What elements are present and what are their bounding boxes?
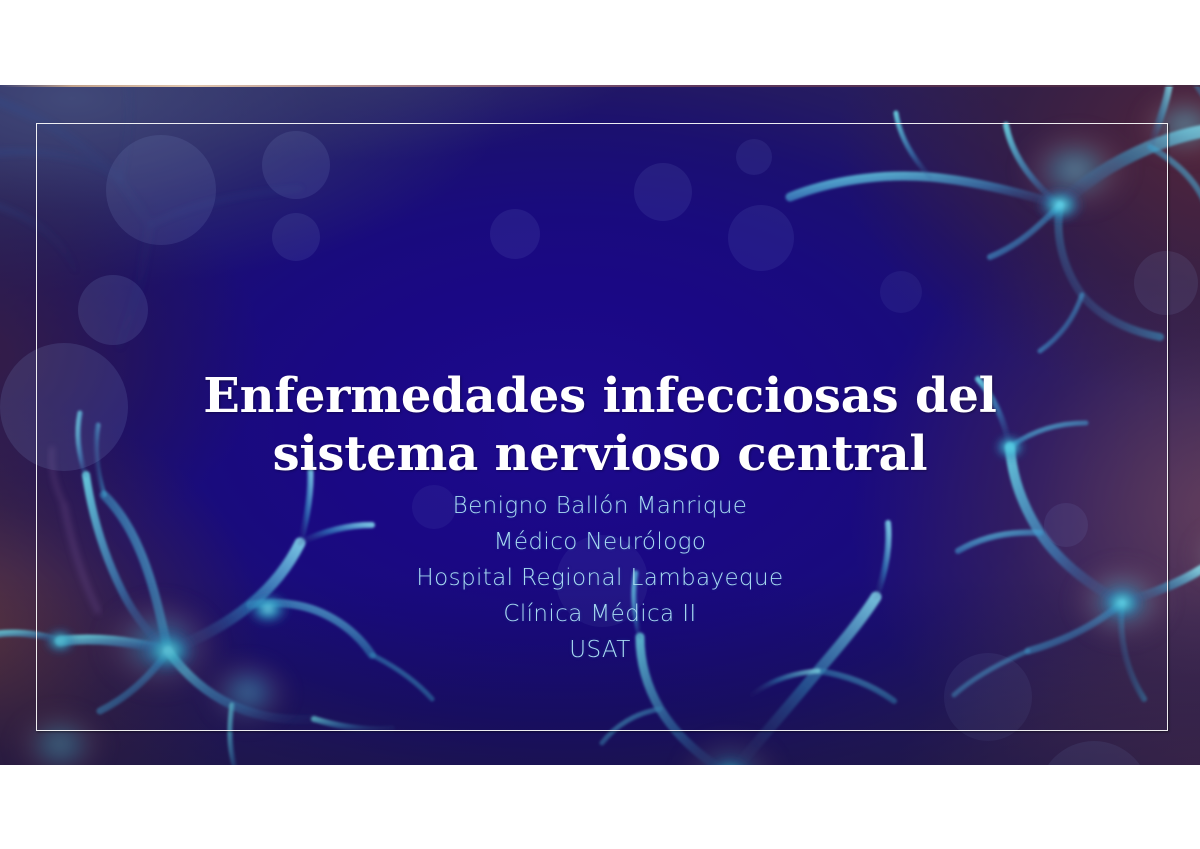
subtitle-hospital: Hospital Regional Lambayeque [200, 560, 1000, 596]
presentation-slide: Enfermedades infecciosas del sistema ner… [0, 85, 1200, 765]
subtitle-role: Médico Neurólogo [200, 524, 1000, 560]
title-line-2: sistema nervioso central [273, 426, 928, 482]
bokeh-circle [78, 275, 148, 345]
bokeh-circle [728, 205, 794, 271]
subtitle-course: Clínica Médica II [200, 596, 1000, 632]
title-line-1: Enfermedades infecciosas del [203, 368, 996, 424]
bokeh-circle [634, 163, 692, 221]
neuron-left-faint [52, 449, 99, 611]
bokeh-circle [106, 135, 216, 245]
neuron-top-left [0, 85, 300, 345]
bokeh-circle [272, 213, 320, 261]
bokeh-circle [1038, 741, 1150, 765]
slide-page: Enfermedades infecciosas del sistema ner… [0, 0, 1200, 849]
neuron-top-right [790, 85, 1200, 351]
slide-title: Enfermedades infecciosas del sistema ner… [140, 367, 1060, 483]
bokeh-circle [262, 131, 330, 199]
bokeh-circle [1044, 503, 1088, 547]
bokeh-circle [490, 209, 540, 259]
slide-subtitle: Benigno Ballón Manrique Médico Neurólogo… [200, 488, 1000, 668]
subtitle-institution: USAT [200, 632, 1000, 668]
bokeh-circle [1134, 251, 1198, 315]
subtitle-author: Benigno Ballón Manrique [200, 488, 1000, 524]
bokeh-circle [736, 139, 772, 175]
background-top-accent-line [0, 85, 1200, 87]
bokeh-circle [0, 343, 128, 471]
bokeh-circle [880, 271, 922, 313]
